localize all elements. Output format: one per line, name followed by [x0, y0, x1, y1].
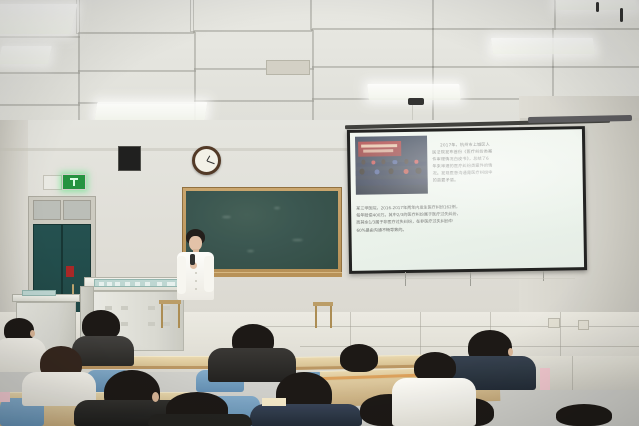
exit-sign-housing	[43, 175, 62, 190]
slide-paragraph-2: 某三甲医院，2016-2017年两年内发生医疗纠纷162例， 每年赔偿400万。…	[356, 201, 578, 233]
slide-p1-line-1: 2017年，杭州市上城区人	[432, 139, 577, 148]
ceiling-fixture	[596, 2, 599, 12]
ceiling-light	[491, 38, 595, 54]
slide-p1-line-6: 的首要矛盾。	[433, 177, 459, 182]
exit-sign	[62, 174, 86, 190]
ceiling-light	[95, 102, 208, 120]
wall-socket[interactable]	[548, 318, 560, 328]
screen-lower-rail	[360, 278, 575, 279]
ceiling-light	[0, 4, 78, 34]
ceiling-light	[0, 46, 52, 64]
slide-p1-line-4: 年来审理的医疗纠纷类案件的情	[432, 163, 492, 169]
screen-support-hook	[470, 272, 471, 286]
door-notice-sign	[66, 266, 74, 277]
lecture-hall-photo: 2017年，杭州市上城区人 民法院发布首份《医疗纠纷类案 件审理情况白皮书》，总…	[0, 0, 639, 426]
presentation-slide: 2017年，杭州市上城区人 民法院发布首份《医疗纠纷类案 件审理情况白皮书》，总…	[350, 129, 584, 271]
student-head	[340, 344, 378, 372]
door-transom-window	[63, 200, 91, 220]
screen-support-hook	[543, 271, 544, 281]
slide-p2-line-1: 某三甲医院，2016-2017年两年内发生医疗纠纷162例，	[356, 204, 460, 211]
clock-minute-hand	[206, 160, 214, 164]
slide-p2-line-3: 而其余1/3属于非医疗过失纠纷，在非医疗过失纠纷中	[356, 219, 453, 226]
slide-p1-line-3: 件审理情况白皮书》，总结了6	[432, 156, 489, 162]
student-body	[392, 378, 476, 426]
slide-embedded-photo	[355, 136, 428, 195]
handheld-microphone[interactable]	[190, 254, 195, 265]
presenter-arm-right	[204, 256, 214, 292]
ceiling-fixture	[620, 8, 623, 22]
student-head	[556, 404, 612, 426]
wall-clock	[192, 146, 221, 175]
paper-on-desk	[540, 368, 550, 390]
presenter-arm-left	[177, 256, 186, 294]
slide-paragraph-1: 2017年，杭州市上城区人 民法院发布首份《医疗纠纷类案 件审理情况白皮书》，总…	[432, 133, 578, 199]
wall-socket[interactable]	[578, 320, 589, 330]
slide-p2-line-4: 60%是由沟通不畅导致的。	[356, 227, 406, 233]
wall-loudspeaker	[118, 146, 141, 171]
side-table-tray	[22, 290, 56, 296]
projection-screen-surface: 2017年，杭州市上城区人 民法院发布首份《医疗纠纷类案 件审理情况白皮书》，总…	[350, 129, 584, 271]
door-transom-window	[33, 200, 61, 220]
exit-icon	[73, 178, 75, 186]
wall-trim	[0, 148, 360, 151]
paper-on-desk	[0, 392, 10, 402]
ceiling-vent	[266, 60, 310, 75]
paper-on-desk	[262, 398, 286, 406]
screen-support-hook	[405, 272, 406, 286]
student-body	[208, 348, 296, 382]
slide-p1-line-2: 民法院发布首份《医疗纠纷类案	[432, 149, 492, 155]
photo-red-banner	[358, 141, 401, 157]
projector-mount	[408, 98, 424, 105]
podium-control-panel[interactable]	[94, 279, 178, 287]
student-body	[148, 414, 252, 426]
student-body	[250, 404, 362, 426]
slide-p2-line-2: 每年赔偿400万。其中2/3的医疗纠纷属于医疗过失纠纷，	[356, 211, 461, 218]
projection-screen: 2017年，杭州市上城区人 民法院发布首份《医疗纠纷类案 件审理情况白皮书》，总…	[347, 126, 587, 274]
slide-p1-line-5: 况。发现医患沟通是医疗纠纷中	[433, 170, 493, 176]
